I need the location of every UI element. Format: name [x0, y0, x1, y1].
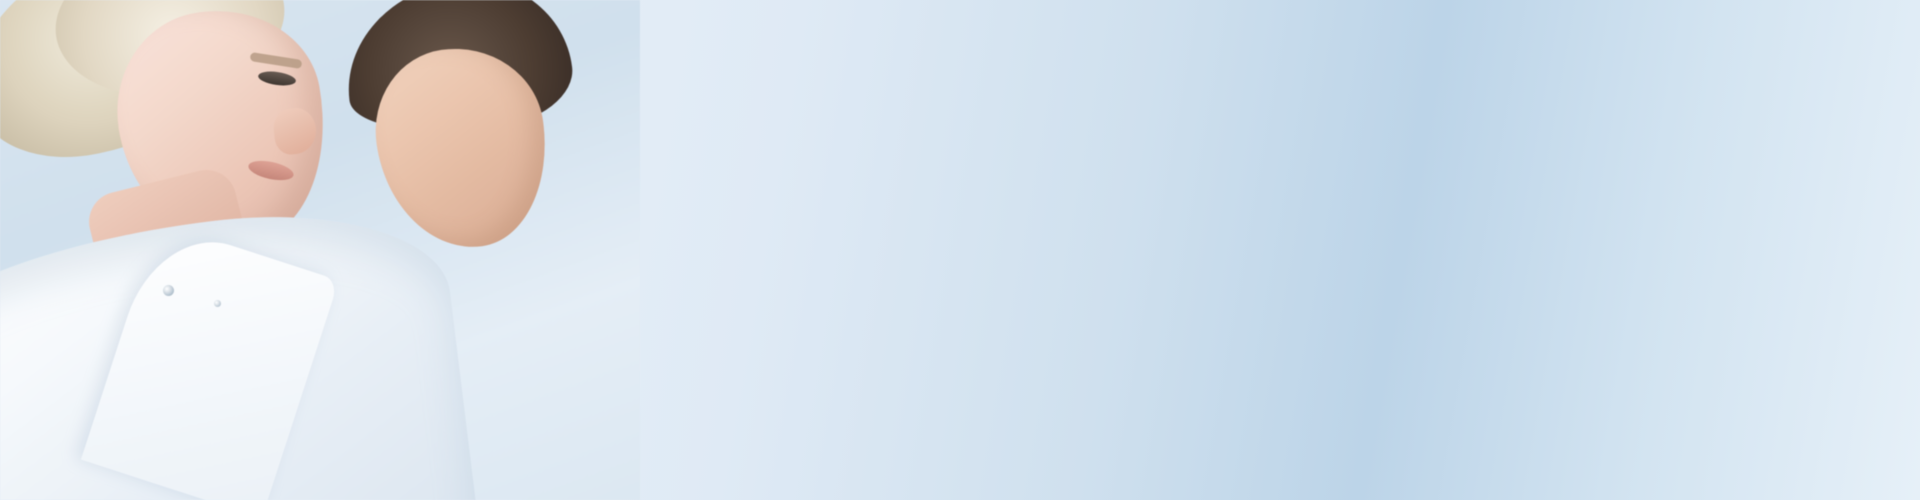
lab-technicians-photo	[0, 0, 640, 500]
background-photo	[0, 0, 1920, 500]
promo-banner: 已通过 GMPC国际认证 ISO22716国际认证 ISO9001:2015质量…	[0, 0, 1920, 500]
